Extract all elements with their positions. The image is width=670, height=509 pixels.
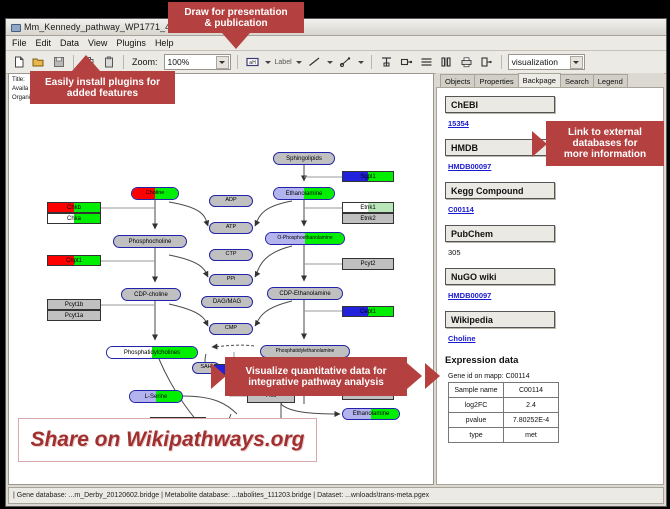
node-label: PPi — [227, 277, 236, 283]
menu-item-help[interactable]: Help — [155, 38, 174, 48]
metabolite-node-phosphatidylcholines[interactable]: Phosphatidylcholines — [106, 346, 198, 359]
db-header-kegg: Kegg Compound — [445, 182, 555, 199]
node-label: Chkb — [67, 205, 81, 211]
expr-val-log2fc: 2.4 — [504, 398, 559, 413]
db-link-kegg[interactable]: C00114 — [448, 205, 474, 214]
status-text: | Gene database: ...m_Derby_20120602.bri… — [9, 492, 429, 499]
title-bar: Mm_Kennedy_pathway_WP1771_45176.gpml — [6, 19, 666, 36]
callout-link-line1: Link to external — [568, 127, 642, 138]
node-label: Phosphatidylethanolamine — [276, 349, 335, 354]
expr-key-pvalue: pvalue — [449, 413, 504, 428]
callout-draw-line2: & publication — [204, 18, 267, 29]
gene-node-etnk1[interactable]: Etnk1 — [342, 202, 394, 213]
callout-link-line2: databases for — [572, 138, 637, 149]
node-label: Etnk2 — [360, 216, 375, 222]
node-label: Phosphocholine — [129, 239, 172, 245]
menu-item-data[interactable]: Data — [60, 38, 79, 48]
metabolite-node-o-phosphoethanolamine[interactable]: O-Phosphoethanolamine — [265, 232, 345, 245]
export-icon[interactable] — [478, 54, 495, 71]
meta-title: Title: — [12, 76, 30, 85]
callout-visualize: Visualize quantitative data for integrat… — [225, 357, 407, 396]
zoom-combo[interactable]: 100% — [164, 54, 231, 70]
expr-key-type: type — [449, 428, 504, 443]
status-bar: | Gene database: ...m_Derby_20120602.bri… — [8, 487, 664, 504]
menu-item-plugins[interactable]: Plugins — [116, 38, 146, 48]
screenshot-root: Mm_Kennedy_pathway_WP1771_45176.gpml Fil… — [0, 0, 670, 509]
callout-share-text: Share on Wikipathways.org — [30, 428, 304, 452]
metabolite-node-ethanolamine[interactable]: Ethanolamine — [273, 187, 335, 200]
node-label: DAG/MAG — [213, 299, 241, 305]
menu-item-edit[interactable]: Edit — [36, 38, 52, 48]
save-file-icon[interactable] — [50, 54, 67, 71]
node-label: Ethanolamine — [353, 411, 390, 417]
db-header-nugowiki: NuGO wiki — [445, 268, 555, 285]
line-icon[interactable] — [306, 54, 323, 71]
expression-data-heading: Expression data — [445, 355, 663, 366]
expression-table: Sample name C00114 log2FC 2.4 pvalue 7.8… — [448, 382, 559, 443]
metabolite-node-ethanolamine-right[interactable]: Ethanolamine — [342, 408, 400, 420]
node-label: Cept1 — [360, 309, 376, 315]
node-label: CDP-Ethanolamine — [279, 291, 330, 297]
metabolite-node-ctp[interactable]: CTP — [209, 249, 253, 261]
expr-key-log2fc: log2FC — [449, 398, 504, 413]
node-label: Chka — [67, 216, 81, 222]
callout-plugins: Easily install plugins for added feature… — [30, 71, 175, 104]
print-icon[interactable] — [458, 54, 475, 71]
metabolite-node-phosphocholine[interactable]: Phosphocholine — [113, 235, 187, 248]
menu-item-file[interactable]: File — [12, 38, 27, 48]
tab-properties[interactable]: Properties — [474, 74, 518, 87]
db-link-nugowiki[interactable]: HMDB00097 — [448, 291, 491, 300]
expr-val-pvalue: 7.80252E-4 — [504, 413, 559, 428]
pathvisio-icon — [10, 22, 20, 32]
side-panel-tabs: Objects Properties Backpage Search Legen… — [436, 73, 664, 87]
node-label: CTP — [226, 252, 237, 258]
paste-icon[interactable] — [100, 54, 117, 71]
callout-draw-arrow — [222, 33, 250, 49]
label-tool-caption: Label — [275, 59, 292, 66]
node-label: Pcyt1b — [65, 302, 83, 308]
callout-draw: Draw for presentation & publication — [168, 2, 304, 33]
callout-link: Link to external databases for more info… — [546, 121, 664, 166]
tab-backpage[interactable]: Backpage — [518, 73, 561, 87]
toolbar-separator-5 — [501, 55, 502, 69]
label-dropdown-icon[interactable] — [295, 55, 303, 69]
node-label: ADP — [225, 198, 236, 204]
toolbar-separator-3 — [237, 55, 238, 69]
metabolite-node-adp[interactable]: ADP — [209, 195, 253, 207]
metabolite-node-l-serine-left[interactable]: L-Serine — [129, 390, 183, 403]
node-label: Choline — [146, 191, 165, 197]
metabolite-node-ppi[interactable]: PPi — [209, 274, 253, 286]
chevron-down-icon-2[interactable] — [570, 56, 583, 69]
metabolite-node-cdp-choline[interactable]: CDP-choline — [121, 288, 181, 301]
distribute-icon[interactable] — [438, 54, 455, 71]
callout-draw-line1: Draw for presentation — [184, 7, 287, 18]
db-link-wikipedia[interactable]: Choline — [448, 334, 476, 343]
callout-plugins-line2: added features — [67, 88, 138, 99]
db-header-wikipedia: Wikipedia — [445, 311, 555, 328]
node-label: CMP — [225, 326, 237, 332]
callout-visualize-arrow-far — [425, 363, 440, 389]
gene-id-line: Gene id on mapp: C00114 — [448, 373, 663, 380]
node-label: Phosphatidylcholines — [124, 350, 180, 356]
group-icon[interactable] — [398, 54, 415, 71]
callout-visualize-arrow-left — [211, 363, 226, 389]
node-label: ATP — [226, 225, 236, 231]
metabolite-node-cmp[interactable]: CMP — [209, 323, 253, 335]
callout-link-line3: more information — [564, 149, 646, 160]
gene-node-etnk2[interactable]: Etnk2 — [342, 213, 394, 224]
zoom-label: Zoom: — [132, 57, 158, 67]
node-label: L-Serine — [145, 394, 168, 400]
gene-node-cept1[interactable]: Cept1 — [342, 306, 394, 317]
callout-visualize-line2: integrative pathway analysis — [248, 377, 384, 388]
meta-availability: Availa — [12, 85, 30, 94]
zoom-value: 100% — [168, 57, 190, 67]
gene-node-pcyt1b[interactable]: Pcyt1b — [47, 299, 101, 310]
canvas-meta: Title: Availa Organi — [12, 76, 30, 103]
node-label: Chpt1 — [66, 258, 82, 264]
node-label: O-Phosphoethanolamine — [277, 236, 332, 241]
interaction-icon[interactable] — [337, 54, 354, 71]
table-row: Sample name C00114 — [449, 383, 559, 398]
new-file-icon[interactable] — [10, 54, 27, 71]
gene-node-pcyt2[interactable]: Pcyt2 — [342, 258, 394, 270]
toolbar-separator-2 — [123, 55, 124, 69]
datanode-icon[interactable]: aH — [244, 54, 261, 71]
meta-organism: Organi — [12, 94, 30, 103]
callout-plugins-line1: Easily install plugins for — [45, 77, 160, 88]
menu-bar: File Edit Data View Plugins Help — [6, 36, 666, 51]
db-header-chebi: ChEBI — [445, 96, 555, 113]
gene-node-chpt1[interactable]: Chpt1 — [47, 255, 101, 266]
tab-objects[interactable]: Objects — [440, 74, 475, 87]
tab-search[interactable]: Search — [560, 74, 594, 87]
db-value-pubchem: 305 — [448, 248, 461, 257]
menu-item-view[interactable]: View — [88, 38, 107, 48]
svg-text:aH: aH — [249, 60, 256, 66]
callout-plugins-arrow — [72, 55, 100, 71]
metabolite-node-atp[interactable]: ATP — [209, 222, 253, 234]
gene-node-sgpl1[interactable]: Sgpl1 — [342, 171, 394, 182]
node-label: Etnk1 — [360, 205, 375, 211]
table-row: type met — [449, 428, 559, 443]
datanode-dropdown-icon[interactable] — [264, 55, 272, 69]
gene-node-pcyt1a[interactable]: Pcyt1a — [47, 310, 101, 321]
visualization-value: visualization — [512, 57, 558, 67]
db-link-chebi[interactable]: 15354 — [448, 119, 469, 128]
interaction-dropdown-icon[interactable] — [357, 55, 365, 69]
metabolite-node-dag-mag[interactable]: DAG/MAG — [201, 296, 253, 308]
tab-legend[interactable]: Legend — [593, 74, 628, 87]
node-label: Sgpl1 — [360, 174, 375, 180]
table-row: log2FC 2.4 — [449, 398, 559, 413]
stack-icon[interactable] — [418, 54, 435, 71]
line-dropdown-icon[interactable] — [326, 55, 334, 69]
expr-val-sample-name: C00114 — [504, 383, 559, 398]
gene-node-chka[interactable]: Chka — [47, 213, 101, 224]
metabolite-node-choline-top[interactable]: Choline — [131, 187, 179, 200]
align-icon[interactable] — [378, 54, 395, 71]
node-label: Sphingolipids — [286, 156, 322, 162]
callout-share: Share on Wikipathways.org — [18, 418, 317, 462]
node-label: Ethanolamine — [286, 191, 323, 197]
callout-visualize-line1: Visualize quantitative data for — [246, 366, 387, 377]
node-label: SAH — [200, 365, 211, 371]
expr-val-type: met — [504, 428, 559, 443]
table-row: pvalue 7.80252E-4 — [449, 413, 559, 428]
db-link-hmdb[interactable]: HMDB00097 — [448, 162, 491, 171]
db-header-pubchem: PubChem — [445, 225, 555, 242]
node-label: Pcyt2 — [360, 261, 375, 267]
node-label: Pcyt1a — [65, 313, 83, 319]
toolbar-separator-4 — [371, 55, 372, 69]
metabolite-node-sphingolipids[interactable]: Sphingolipids — [273, 152, 335, 165]
callout-link-arrow — [532, 131, 547, 157]
open-file-icon[interactable] — [30, 54, 47, 71]
gene-node-chkb[interactable]: Chkb — [47, 202, 101, 213]
chevron-down-icon[interactable] — [216, 56, 229, 69]
metabolite-node-cdp-ethanolamine[interactable]: CDP-Ethanolamine — [267, 287, 343, 300]
callout-visualize-arrow-right — [407, 363, 422, 389]
visualization-combo[interactable]: visualization — [508, 54, 585, 70]
node-label: CDP-choline — [134, 292, 168, 298]
expr-key-sample-name: Sample name — [449, 383, 504, 398]
